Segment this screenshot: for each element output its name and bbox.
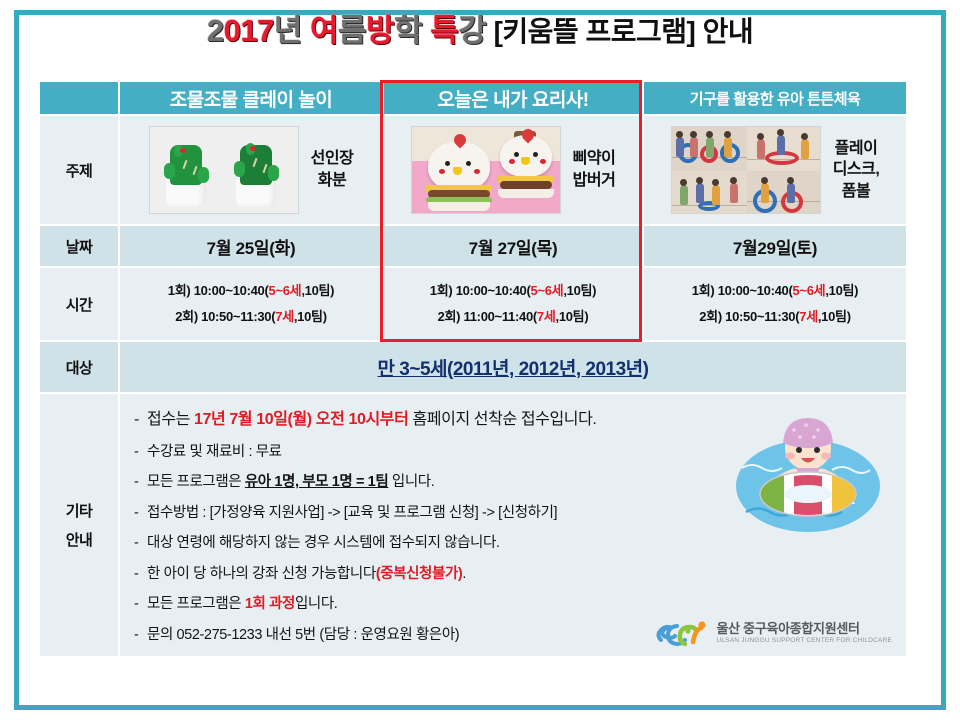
- note-line-6: -한 아이 당 하나의 강좌 신청 가능합니다(중복신청불가).: [134, 559, 894, 589]
- topic-label-col2: 삐약이 밥버거: [573, 148, 616, 191]
- row-label-topic: 주제: [40, 116, 118, 224]
- topic-label-col1: 선인장 화분: [311, 148, 354, 191]
- t2p-col1: 2회) 10:50~11:30(: [175, 309, 275, 324]
- t2age-col2: 7세: [537, 309, 556, 324]
- note-line-4: -접수방법 : [가정양육 지원사업] -> [교육 및 프로그램 신청] ->…: [134, 498, 894, 528]
- t1age-col1: 5~6세: [269, 283, 302, 298]
- note-dash-6: -: [134, 563, 147, 585]
- title-seg-4: 름: [338, 13, 366, 48]
- note-dash-3: -: [134, 471, 147, 493]
- chick-rice-burger-photo: [411, 126, 561, 214]
- time-cell-col2: 1회) 10:00~10:40(5~6세,10팀) 2회) 11:00~11:4…: [384, 268, 642, 340]
- note-1-post: 홈페이지 선착순 접수입니다.: [408, 411, 596, 428]
- date-text-col1: 7월 25일(화): [120, 234, 382, 259]
- note-dash-5: -: [134, 532, 147, 554]
- header-col2-cooking: 오늘은 내가 요리사!: [384, 82, 642, 114]
- gym-play-disc-collage-photo: [671, 126, 821, 214]
- note-line-2: -수강료 및 재료비 : 무료: [134, 437, 894, 467]
- table-row-notes: 기타 안내: [40, 394, 906, 656]
- note-1-red: 17년 7월 10일(월) 오전 10시부터: [194, 411, 408, 428]
- title-seg-8: 특: [430, 13, 458, 48]
- poster-page: 2017년 여름방학 특강 [키움뜰 프로그램] 안내 조물조물 클레이 놀이 …: [0, 0, 960, 720]
- date-cell-col2: 7월 27일(목): [384, 226, 642, 266]
- row-label-notes: 기타 안내: [40, 394, 118, 656]
- t2p-col2: 2회) 11:00~11:40(: [438, 309, 537, 324]
- note-dash-7: -: [134, 593, 147, 615]
- header-corner-cell: [40, 82, 118, 114]
- t2s-col3: ,10팀): [818, 309, 851, 324]
- note-2-text: 수강료 및 재료비 : 무료: [147, 444, 282, 460]
- title-seg-1: 017: [224, 13, 274, 48]
- notes-body: -접수는 17년 7월 10일(월) 오전 10시부터 홈페이지 선착순 접수입…: [120, 394, 906, 656]
- date-cell-col1: 7월 25일(화): [120, 226, 382, 266]
- topic-cell-col2: 삐약이 밥버거: [384, 116, 642, 224]
- note-dash-4: -: [134, 502, 147, 524]
- note-1-pre: 접수는: [147, 411, 194, 428]
- note-7-pre: 모든 프로그램은: [147, 596, 245, 612]
- note-4-text: 접수방법 : [가정양육 지원사업] -> [교육 및 프로그램 신청] -> …: [147, 505, 557, 521]
- header-col3-gym: 기구를 활용한 유아 튼튼체육: [644, 82, 906, 114]
- table-header-row: 조물조물 클레이 놀이 오늘은 내가 요리사! 기구를 활용한 유아 튼튼체육: [40, 82, 906, 114]
- t2p-col3: 2회) 10:50~11:30(: [699, 309, 799, 324]
- note-8-text: 문의 052-275-1233 내선 5번 (담당 : 운영요원 황은아): [147, 627, 459, 643]
- time-session1-col1: 1회) 10:00~10:40(5~6세,10팀): [120, 278, 382, 304]
- logo-english-name: ULSAN JUNGGU SUPPORT CENTER FOR CHILDCAR…: [716, 637, 892, 644]
- poster-title: 2017년 여름방학 특강 [키움뜰 프로그램] 안내: [0, 14, 960, 48]
- t2s-col1: ,10팀): [294, 309, 327, 324]
- time-session1-col3: 1회) 10:00~10:40(5~6세,10팀): [644, 278, 906, 304]
- title-text-run: 2017년 여름방학 특강 [키움뜰 프로그램] 안내: [207, 14, 753, 48]
- time-session2-col1: 2회) 10:50~11:30(7세,10팀): [120, 304, 382, 330]
- t1s-col2: ,10팀): [563, 283, 596, 298]
- time-session1-col2: 1회) 10:00~10:40(5~6세,10팀): [384, 278, 642, 304]
- note-3-post: 입니다.: [388, 474, 434, 490]
- row-label-notes-line2: 안내: [40, 529, 118, 550]
- clay-cactus-photo: [149, 126, 299, 214]
- time-session2-col3: 2회) 10:50~11:30(7세,10팀): [644, 304, 906, 330]
- note-5-text: 대상 연령에 해당하지 않는 경우 시스템에 접수되지 않습니다.: [147, 535, 500, 551]
- t1p-col2: 1회) 10:00~10:40(: [430, 283, 531, 298]
- date-cell-col3: 7월29일(토): [644, 226, 906, 266]
- row-label-date: 날짜: [40, 226, 118, 266]
- title-seg-5: 방: [366, 13, 394, 48]
- time-block-col1: 1회) 10:00~10:40(5~6세,10팀) 2회) 10:50~11:3…: [120, 278, 382, 330]
- note-3-underline: 유아 1명, 부모 1명 = 1팀: [245, 474, 388, 490]
- t1s-col1: ,10팀): [301, 283, 334, 298]
- table-row-date: 날짜 7월 25일(화) 7월 27일(목) 7월29일(토): [40, 226, 906, 266]
- date-text-col2: 7월 27일(목): [384, 234, 642, 259]
- t1age-col2: 5~6세: [531, 283, 564, 298]
- logo-text-block: 울산 중구육아종합지원센터 ULSAN JUNGGU SUPPORT CENTE…: [716, 622, 892, 644]
- date-text-col3: 7월29일(토): [644, 234, 906, 259]
- note-6-red: (중복신청불가): [376, 566, 463, 582]
- time-block-col3: 1회) 10:00~10:40(5~6세,10팀) 2회) 10:50~11:3…: [644, 278, 906, 330]
- t1p-col3: 1회) 10:00~10:40(: [692, 283, 793, 298]
- notes-cell: -접수는 17년 7월 10일(월) 오전 10시부터 홈페이지 선착순 접수입…: [120, 394, 906, 656]
- title-seg-0: 2: [207, 13, 224, 48]
- target-text: 만 3~5세(2011년, 2012년, 2013년): [120, 354, 906, 381]
- note-dash-2: -: [134, 441, 147, 463]
- note-3-pre: 모든 프로그램은: [147, 474, 245, 490]
- note-6-pre: 한 아이 당 하나의 강좌 신청 가능합니다: [147, 566, 376, 582]
- t2age-col3: 7세: [799, 309, 818, 324]
- note-line-5: -대상 연령에 해당하지 않는 경우 시스템에 접수되지 않습니다.: [134, 528, 894, 558]
- t1age-col3: 5~6세: [793, 283, 826, 298]
- note-dash-8: -: [134, 624, 147, 646]
- t2age-col1: 7세: [275, 309, 294, 324]
- table-row-time: 시간 1회) 10:00~10:40(5~6세,10팀) 2회) 10:50~1…: [40, 268, 906, 340]
- note-7-post: 입니다.: [295, 596, 337, 612]
- title-seg-3: 여: [310, 13, 338, 48]
- note-line-7: -모든 프로그램은 1회 과정입니다.: [134, 589, 894, 619]
- title-seg-2: 년: [274, 13, 310, 48]
- topic-cell-col1: 선인장 화분: [120, 116, 382, 224]
- note-line-1: -접수는 17년 7월 10일(월) 오전 10시부터 홈페이지 선착순 접수입…: [134, 404, 894, 437]
- title-seg-9: 강: [458, 13, 486, 48]
- target-cell: 만 3~5세(2011년, 2012년, 2013년): [120, 342, 906, 392]
- sc-swirl-logo-icon: [655, 618, 709, 648]
- note-6-post: .: [462, 566, 466, 582]
- t2s-col2: ,10팀): [556, 309, 589, 324]
- center-logo: 울산 중구육아종합지원센터 ULSAN JUNGGU SUPPORT CENTE…: [655, 618, 892, 648]
- time-cell-col1: 1회) 10:00~10:40(5~6세,10팀) 2회) 10:50~11:3…: [120, 268, 382, 340]
- t1p-col1: 1회) 10:00~10:40(: [168, 283, 269, 298]
- header-col1-clay: 조물조물 클레이 놀이: [120, 82, 382, 114]
- table-row-topic: 주제: [40, 116, 906, 224]
- note-line-3: -모든 프로그램은 유아 1명, 부모 1명 = 1팀 입니다.: [134, 467, 894, 497]
- row-label-time: 시간: [40, 268, 118, 340]
- topic-cell-col3: 플레이 디스크, 폼볼: [644, 116, 906, 224]
- time-block-col2: 1회) 10:00~10:40(5~6세,10팀) 2회) 11:00~11:4…: [384, 278, 642, 330]
- program-table-wrap: 조물조물 클레이 놀이 오늘은 내가 요리사! 기구를 활용한 유아 튼튼체육 …: [38, 80, 900, 658]
- title-seg-6: 학: [394, 13, 422, 48]
- t1s-col3: ,10팀): [825, 283, 858, 298]
- title-seg-10: [키움뜰 프로그램] 안내: [486, 16, 753, 47]
- time-session2-col2: 2회) 11:00~11:40(7세,10팀): [384, 304, 642, 330]
- logo-korean-name: 울산 중구육아종합지원센터: [716, 622, 892, 636]
- program-table: 조물조물 클레이 놀이 오늘은 내가 요리사! 기구를 활용한 유아 튼튼체육 …: [38, 80, 908, 658]
- row-label-notes-line1: 기타: [40, 500, 118, 521]
- note-7-red: 1회 과정: [245, 596, 295, 612]
- time-cell-col3: 1회) 10:00~10:40(5~6세,10팀) 2회) 10:50~11:3…: [644, 268, 906, 340]
- table-row-target: 대상 만 3~5세(2011년, 2012년, 2013년): [40, 342, 906, 392]
- row-label-target: 대상: [40, 342, 118, 392]
- note-dash-1: -: [134, 408, 147, 433]
- topic-label-col3: 플레이 디스크, 폼볼: [833, 138, 880, 203]
